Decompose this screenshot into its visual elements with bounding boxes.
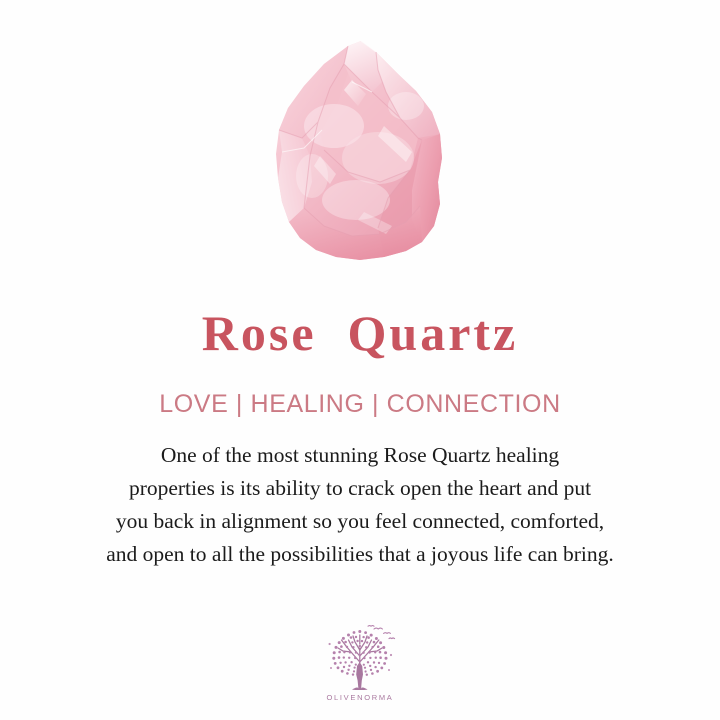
brand-wordmark: OLIVENORMA (326, 693, 393, 702)
description-line: One of the most stunning Rose Quartz hea… (26, 439, 694, 472)
rose-quartz-crystal-image (260, 30, 460, 270)
description-line: properties is its ability to crack open … (26, 472, 694, 505)
description-line: you back in alignment so you feel connec… (26, 505, 694, 538)
rose-quartz-info-card: Rose Quartz LOVE | HEALING | CONNECTION … (0, 0, 720, 720)
brand-logo: OLIVENORMA (0, 622, 720, 702)
description-text: One of the most stunning Rose Quartz hea… (26, 439, 694, 571)
page-title: Rose Quartz (202, 308, 519, 358)
tree-of-life-icon (321, 622, 399, 692)
keywords-subtitle: LOVE | HEALING | CONNECTION (159, 392, 560, 417)
product-image-area (0, 0, 720, 282)
description-line: and open to all the possibilities that a… (26, 538, 694, 571)
